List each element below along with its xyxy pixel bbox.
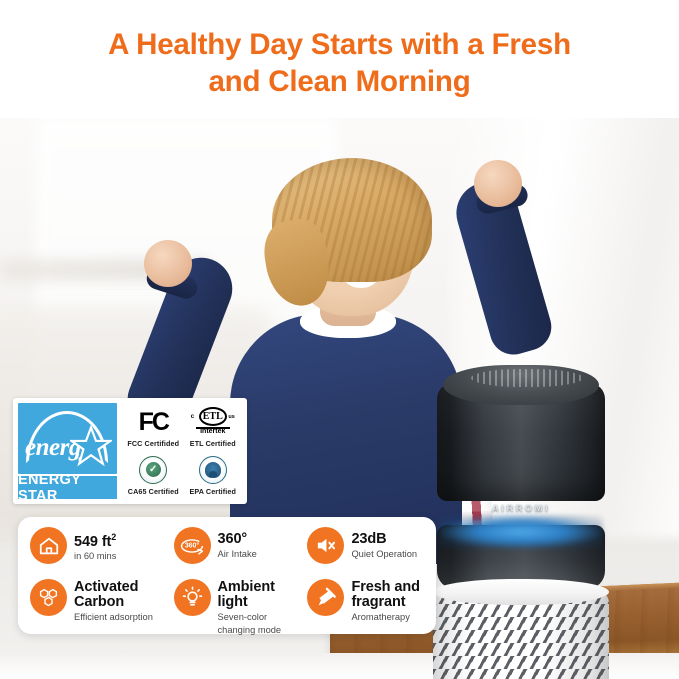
feature-highlights-panel: 549 ft2 in 60 mins 360° 360° Air Intake <box>18 517 436 634</box>
noise-sub: Quiet Operation <box>351 549 417 560</box>
intertek-text: Intertek <box>190 428 236 435</box>
aroma-title-line1: Fresh and <box>351 580 419 595</box>
aroma-sub: Aromatherapy <box>351 612 419 623</box>
noise-title: 23dB <box>351 532 417 547</box>
etl-label: ETL Certified <box>190 439 236 448</box>
mute-speaker-icon <box>307 527 344 564</box>
etl-intertek-icon: c ETL us Intertek <box>190 408 236 436</box>
honeycomb-carbon-icon <box>30 579 67 616</box>
cert-ca65: CA65 Certified <box>124 453 183 500</box>
ambient-sub-line1: Seven-color <box>218 612 282 623</box>
certification-marks-grid: FC FCC Certifided c ETL us Intertek ETL … <box>124 403 242 499</box>
feature-noise-level: 23dB Quiet Operation <box>307 527 428 564</box>
house-coverage-icon <box>30 527 67 564</box>
light-bulb-icon <box>174 579 211 616</box>
feature-ambient-light: Ambient light Seven-color changing mode <box>174 579 308 636</box>
child-hair <box>272 158 432 282</box>
etl-c-mark: c <box>191 414 194 420</box>
star-icon <box>70 425 112 467</box>
energy-star-label: ENERGY STAR <box>18 472 117 504</box>
air-intake-sub: Air Intake <box>218 549 257 560</box>
ambient-title-line1: Ambient <box>218 580 282 595</box>
ambient-sub-line2: changing mode <box>218 625 282 636</box>
coverage-unit-sup: 2 <box>111 532 116 542</box>
fcc-label: FCC Certifided <box>127 439 179 448</box>
purifier-top-cap <box>443 365 599 405</box>
purifier-air-outlet-grille <box>471 369 583 387</box>
speaker-mute-glyph <box>314 535 337 556</box>
fcc-mark-text: FC <box>139 410 168 435</box>
feature-row-1: 549 ft2 in 60 mins 360° 360° Air Intake <box>30 527 428 577</box>
child-left-fist <box>144 240 192 287</box>
coverage-title: 549 ft2 <box>74 530 116 550</box>
epa-label: EPA Certified <box>190 487 236 496</box>
purifier-rim <box>433 579 609 605</box>
air-intake-title: 360° <box>218 532 257 547</box>
bulb-glyph <box>181 586 204 609</box>
feature-coverage-area: 549 ft2 in 60 mins <box>30 527 174 564</box>
feature-row-2: Activated Carbon Efficient adsorption Am… <box>30 579 428 636</box>
feature-activated-carbon: Activated Carbon Efficient adsorption <box>30 579 174 623</box>
rotation-arrow-icon: 360° <box>179 535 205 557</box>
certification-panel: energy ENERGY STAR FC FCC Certifided c <box>13 398 247 504</box>
ca65-seal-icon <box>139 456 167 484</box>
feature-air-intake: 360° 360° Air Intake <box>174 527 308 564</box>
etl-oval-mark: ETL <box>199 407 227 426</box>
carbon-title-line2: Carbon <box>74 595 153 610</box>
carbon-sub: Efficient adsorption <box>74 612 153 623</box>
cert-etl: c ETL us Intertek ETL Certified <box>184 405 243 452</box>
cert-epa: EPA Certified <box>184 453 243 500</box>
aroma-dropper-icon <box>307 579 344 616</box>
cert-fcc: FC FCC Certifided <box>124 405 183 452</box>
svg-text:360°: 360° <box>185 541 200 549</box>
fcc-logo-icon: FC <box>139 408 168 436</box>
headline-line-2: and Clean Morning <box>40 63 639 100</box>
product-feature-image: A Healthy Day Starts with a Fresh and Cl… <box>0 0 679 679</box>
epa-seal-icon <box>199 456 227 484</box>
air-purifier-product: AIRROMI <box>437 365 605 679</box>
energy-star-badge: energy ENERGY STAR <box>18 403 117 499</box>
energy-star-wordmark: ENERGY STAR <box>18 474 117 499</box>
ambient-title-line2: light <box>218 595 282 610</box>
brand-logo: AIRROMI <box>437 503 605 514</box>
dropper-glyph <box>315 587 337 609</box>
headline-line-1: A Healthy Day Starts with a Fresh <box>40 26 639 63</box>
feature-aromatherapy: Fresh and fragrant Aromatherapy <box>307 579 428 623</box>
child-right-fist <box>474 160 522 207</box>
carbon-title-line1: Activated <box>74 580 153 595</box>
energy-star-logo-mark: energy <box>18 403 117 474</box>
360-rotation-icon: 360° <box>174 527 211 564</box>
headline: A Healthy Day Starts with a Fresh and Cl… <box>0 26 679 100</box>
ca65-check-icon <box>146 462 161 477</box>
aroma-title-line2: fragrant <box>351 595 419 610</box>
honeycomb-glyph <box>37 587 60 608</box>
epa-emblem-icon <box>205 462 221 478</box>
ambient-light-glow <box>439 515 603 549</box>
coverage-sub: in 60 mins <box>74 551 116 562</box>
etl-us-mark: us <box>228 414 234 420</box>
ca65-label: CA65 Certified <box>128 487 179 496</box>
